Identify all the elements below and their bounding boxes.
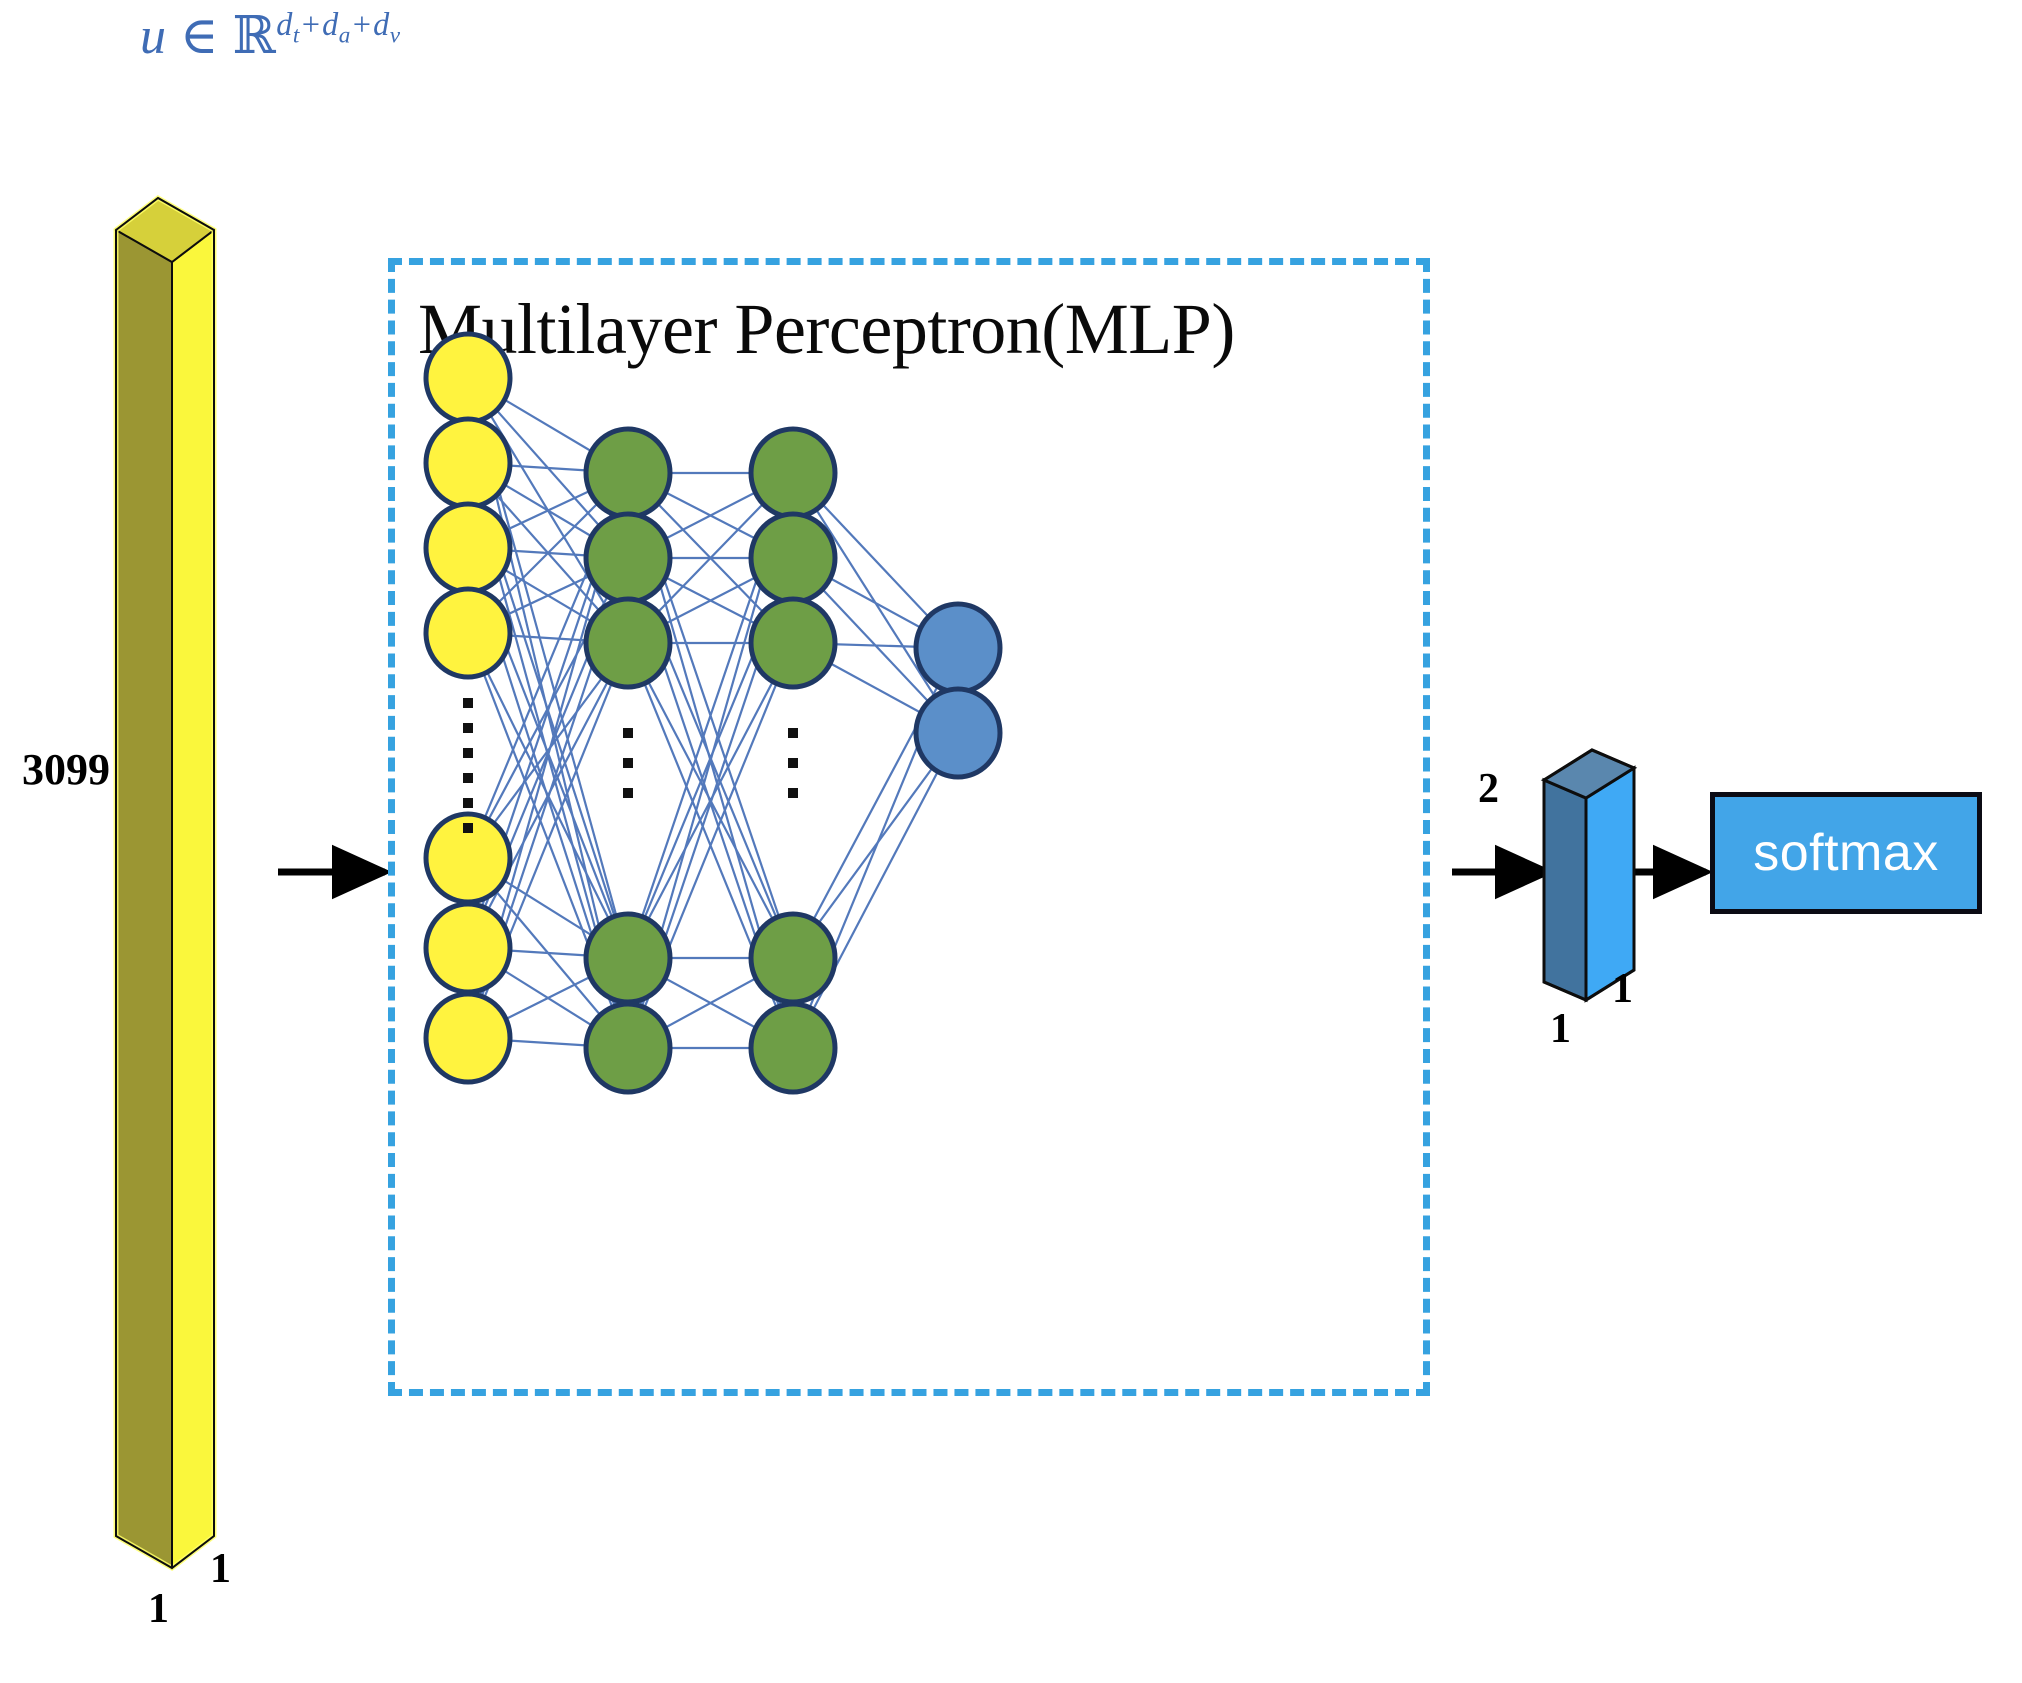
node-input	[426, 589, 510, 677]
node-hidden2	[751, 599, 835, 687]
exp-d3: d	[373, 6, 390, 42]
exp-v: v	[390, 22, 401, 48]
node-hidden2	[751, 1004, 835, 1092]
input-formula: u ∈ ℝdt+da+dv	[140, 6, 401, 66]
exp-d2: d	[322, 6, 339, 42]
input-vector-bar	[110, 96, 240, 1576]
node-output	[916, 604, 1000, 692]
exp-d1: d	[276, 6, 293, 42]
softmax-box[interactable]: softmax	[1710, 792, 1982, 914]
node-hidden2	[751, 429, 835, 517]
diagram-canvas: u ∈ ℝdt+da+dv 3099 1 1 Multilayer Percep…	[0, 0, 2022, 1683]
node-input	[426, 904, 510, 992]
node-hidden1	[586, 599, 670, 687]
exp-plus2: +	[351, 6, 373, 42]
formula-variable: u	[140, 8, 167, 65]
node-output	[916, 689, 1000, 777]
exp-t: t	[293, 22, 300, 48]
node-hidden1	[586, 1004, 670, 1092]
node-hidden2	[751, 514, 835, 602]
node-input	[426, 419, 510, 507]
output-depth-label: 1	[1550, 1005, 1571, 1053]
softmax-label: softmax	[1753, 827, 1939, 879]
input-depth-label: 1	[148, 1585, 169, 1633]
node-input	[426, 334, 510, 422]
neural-network	[388, 258, 1430, 1396]
node-hidden2	[751, 914, 835, 1002]
input-length-label: 3099	[22, 744, 110, 795]
exp-plus1: +	[300, 6, 322, 42]
node-hidden1	[586, 429, 670, 517]
hidden-layer-1-ellipsis	[623, 728, 633, 798]
output-length-label: 2	[1478, 765, 1499, 813]
network-edges	[468, 378, 958, 1048]
node-input	[426, 994, 510, 1082]
formula-real-space-symbol: ℝ	[233, 6, 277, 66]
output-vector-bar	[1538, 744, 1668, 1004]
formula-exponent: dt+da+dv	[276, 6, 400, 42]
output-layer-nodes	[916, 604, 1000, 777]
node-hidden1	[586, 514, 670, 602]
formula-member-symbol: ∈	[180, 8, 219, 65]
node-hidden1	[586, 914, 670, 1002]
input-width-label: 1	[210, 1545, 231, 1593]
output-width-label: 1	[1612, 965, 1633, 1013]
exp-a: a	[339, 22, 351, 48]
node-input	[426, 504, 510, 592]
hidden-layer-2-ellipsis	[788, 728, 798, 798]
